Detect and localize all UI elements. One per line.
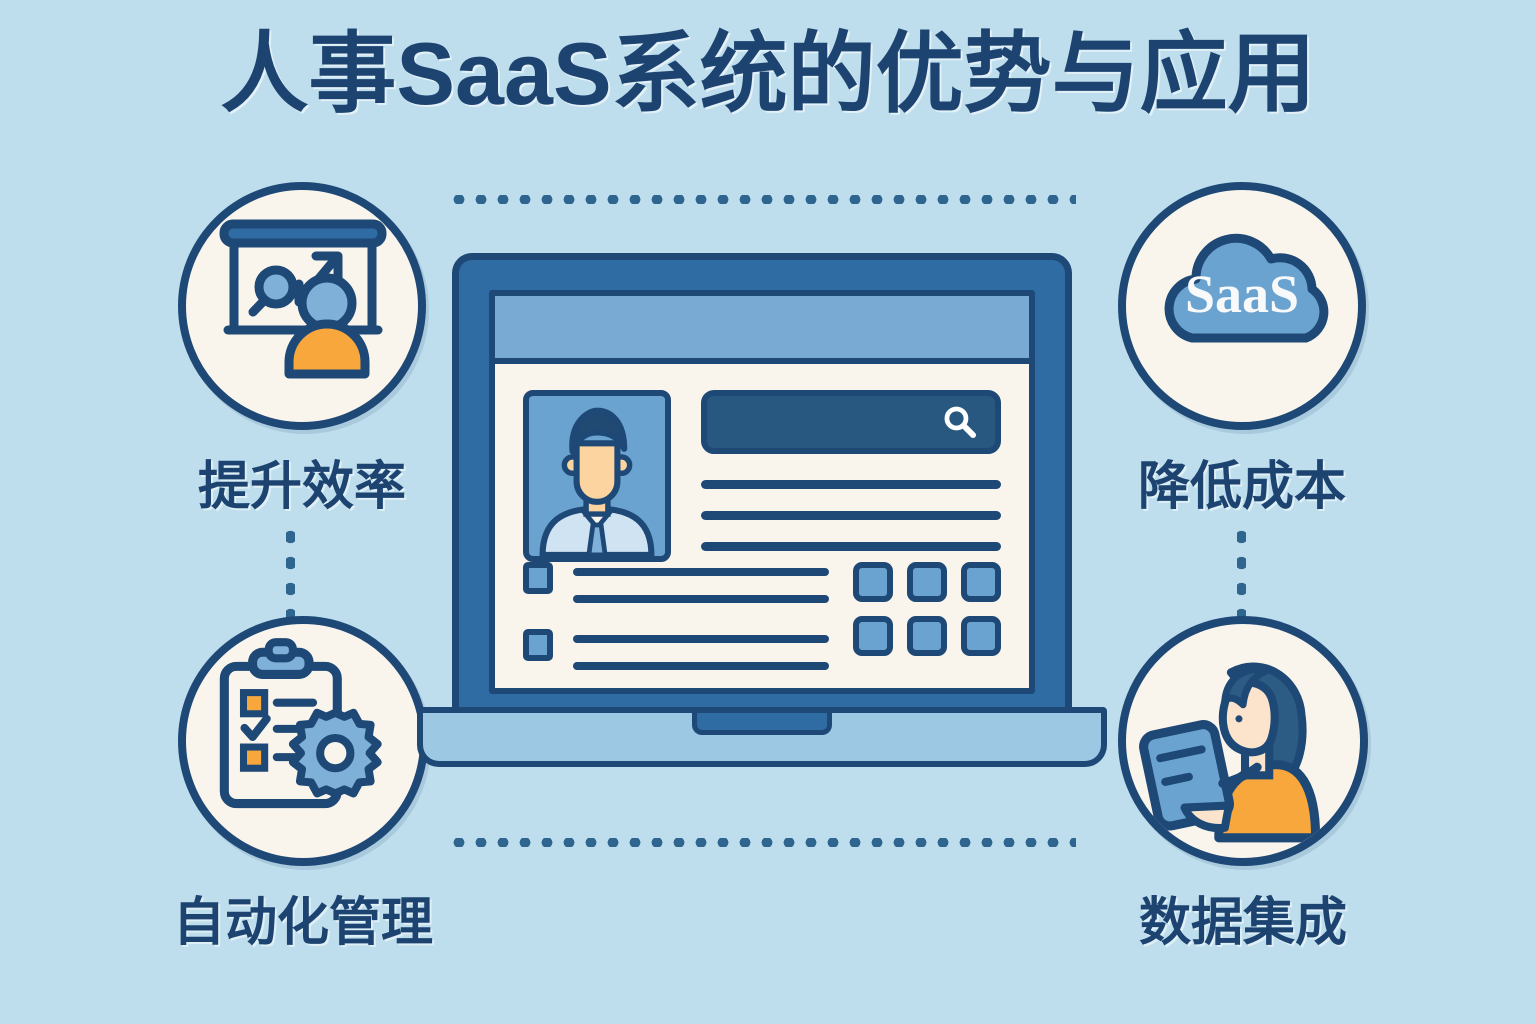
- text-line: [573, 595, 829, 603]
- laptop-screen: [489, 290, 1035, 694]
- module-tile[interactable]: [961, 562, 1001, 602]
- search-and-details: [701, 390, 1001, 562]
- laptop-base: [417, 707, 1107, 767]
- node-data[interactable]: 数据集成: [1118, 616, 1368, 866]
- module-tile[interactable]: [853, 616, 893, 656]
- infographic-canvas: 人事SaaS系统的优势与应用: [0, 0, 1536, 1024]
- text-line: [701, 542, 1001, 551]
- cloud-saas-text: SaaS: [1185, 264, 1299, 324]
- text-line: [573, 635, 829, 643]
- laptop-lid: [452, 253, 1072, 723]
- list-item-lines: [573, 629, 829, 670]
- app-body: [495, 364, 1029, 688]
- connector-dotted-left: [286, 524, 295, 620]
- circle-automation: [178, 616, 428, 866]
- page-title: 人事SaaS系统的优势与应用: [0, 26, 1536, 121]
- connector-dotted-bottom: [448, 838, 1076, 847]
- node-efficiency[interactable]: 提升效率: [178, 182, 426, 430]
- node-data-label: 数据集成: [1033, 880, 1453, 955]
- node-automation[interactable]: 自动化管理: [178, 616, 428, 866]
- checkbox-list: [523, 562, 829, 670]
- circle-data: [1118, 616, 1368, 866]
- detail-text-lines: [701, 480, 1001, 551]
- node-efficiency-label: 提升效率: [92, 444, 512, 519]
- text-line: [573, 568, 829, 576]
- module-tile[interactable]: [853, 562, 893, 602]
- laptop-device: [452, 253, 1072, 723]
- module-tile[interactable]: [907, 616, 947, 656]
- presentation-chart-person-icon: [186, 190, 418, 422]
- profile-row: [523, 390, 1001, 562]
- employee-photo-card[interactable]: [523, 390, 671, 562]
- search-icon: [941, 403, 979, 441]
- module-tile-grid: [853, 562, 1001, 656]
- person-tablet-icon: [1126, 624, 1360, 858]
- trackpad[interactable]: [692, 713, 832, 735]
- text-line: [573, 662, 829, 670]
- clipboard-gear-icon: [186, 624, 420, 858]
- circle-efficiency: [178, 182, 426, 430]
- node-cost-label: 降低成本: [1032, 444, 1452, 519]
- checkbox[interactable]: [523, 629, 553, 661]
- module-tile[interactable]: [961, 616, 1001, 656]
- search-input[interactable]: [701, 390, 1001, 454]
- text-line: [701, 480, 1001, 489]
- saas-cloud-icon: SaaS: [1126, 190, 1358, 422]
- node-cost[interactable]: SaaS 降低成本: [1118, 182, 1366, 430]
- circle-cost: SaaS: [1118, 182, 1366, 430]
- text-line: [701, 511, 1001, 520]
- app-topbar: [495, 296, 1029, 364]
- list-item-lines: [573, 562, 829, 603]
- employee-portrait-icon: [529, 396, 665, 556]
- list-and-tiles-row: [523, 562, 1001, 670]
- list-item[interactable]: [523, 629, 829, 670]
- list-item[interactable]: [523, 562, 829, 603]
- checkbox[interactable]: [523, 562, 553, 594]
- connector-dotted-top: [448, 195, 1076, 204]
- node-automation-label: 自动化管理: [93, 880, 513, 955]
- module-tile[interactable]: [907, 562, 947, 602]
- connector-dotted-right: [1237, 524, 1246, 620]
